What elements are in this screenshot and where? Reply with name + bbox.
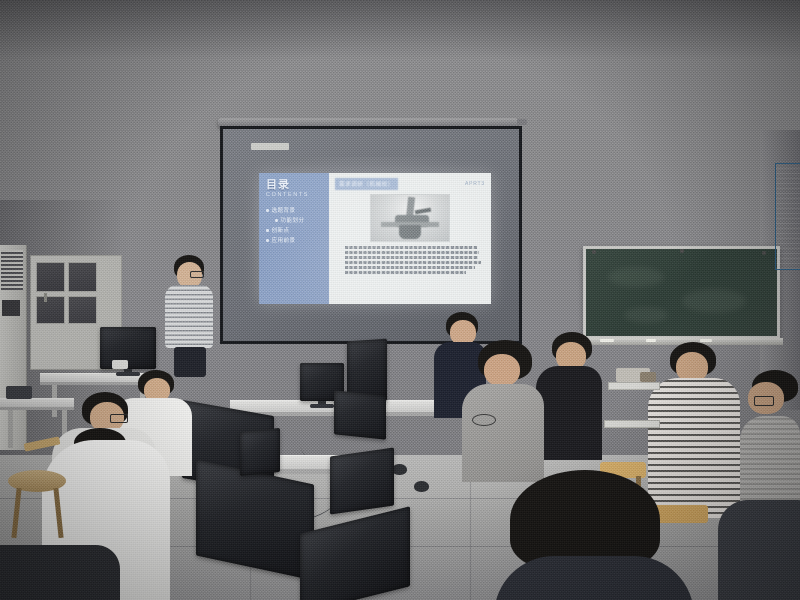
ceiling-shadow: [0, 0, 800, 60]
standing-presenter: [160, 255, 220, 375]
slide-sidebar-heading-cn: 目录: [266, 180, 324, 191]
computer-mouse[interactable]: [414, 481, 429, 492]
side-shelf: [604, 420, 660, 428]
slide-machinery-photo: [370, 194, 450, 242]
bullet-dot-icon: [266, 239, 269, 242]
desk-item: [6, 386, 32, 399]
foreground-shadow-mass: [0, 545, 120, 600]
cabinet-glass-pane: [36, 296, 65, 324]
monitor[interactable]: [240, 428, 280, 476]
presenter-glasses: [190, 271, 204, 278]
bullet-dot-icon: [266, 229, 269, 232]
cabinet-glass-pane: [36, 262, 65, 292]
slide-paragraph: [345, 246, 482, 274]
slide-content-area: 需求调研（机械绞） APRT3: [329, 173, 491, 304]
projected-slide: 目录 CONTENTS 选题背景 功能划分 创新点: [259, 173, 491, 304]
student-mid-gray-glasses: [462, 340, 548, 480]
slide-bullet-item: 选题背景: [266, 206, 324, 216]
monitor[interactable]: [330, 448, 394, 515]
slide-bullet-list: 选题背景 功能划分 创新点 应用前景: [266, 206, 324, 246]
slide-corner-label: APRT3: [465, 181, 485, 187]
desk-item: [112, 360, 128, 369]
cabinet-glass-pane: [68, 296, 97, 324]
cabinet-glass-pane: [68, 262, 97, 292]
computer-mouse[interactable]: [392, 464, 407, 475]
side-shelf: [608, 382, 660, 390]
board-pin: [762, 251, 766, 255]
monitor[interactable]: [100, 327, 156, 369]
screen-pull-tab[interactable]: [251, 143, 289, 150]
slide-bullet-label: 应用前景: [272, 238, 296, 244]
student-foreground-right: [718, 500, 800, 600]
shelf-item: [640, 372, 656, 382]
classroom-photo-scene: 目录 CONTENTS 选题背景 功能划分 创新点: [0, 0, 800, 600]
slide-sidebar: 目录 CONTENTS 选题背景 功能划分 创新点: [259, 173, 329, 304]
bullet-dot-icon: [275, 219, 278, 222]
air-conditioner-panel[interactable]: [2, 300, 20, 316]
slide-bullet-label: 选题背景: [272, 208, 296, 214]
bullet-dot-icon: [266, 209, 269, 212]
slide-bullet-item: 功能划分: [266, 216, 324, 226]
student-glasses: [472, 414, 496, 426]
student-foreground-head: [494, 470, 694, 600]
student-glasses: [754, 396, 774, 406]
slide-bullet-item: 应用前景: [266, 236, 324, 246]
screen-surface: 目录 CONTENTS 选题背景 功能划分 创新点: [223, 129, 519, 341]
projection-screen-assembly[interactable]: 目录 CONTENTS 选题背景 功能划分 创新点: [214, 118, 526, 340]
slide-title: 需求调研（机械绞）: [335, 178, 398, 190]
blue-wall-poster: [775, 163, 800, 270]
slide-sidebar-heading-en: CONTENTS: [266, 192, 324, 198]
presenter-shirt: [165, 285, 213, 348]
chalkboard-frame: [583, 246, 780, 339]
slide-bullet-item: 创新点: [266, 226, 324, 236]
student-glasses: [110, 414, 128, 423]
green-chalkboard[interactable]: [586, 249, 777, 336]
slide-titlebar: 需求调研（机械绞） APRT3: [335, 178, 485, 190]
slide-bullet-label: 创新点: [272, 228, 290, 234]
board-pin: [680, 249, 684, 253]
air-conditioner-vent: [1, 250, 23, 290]
cabinet-handle[interactable]: [44, 293, 47, 302]
board-pin: [592, 250, 596, 254]
slide-bullet-label: 功能划分: [281, 218, 305, 224]
